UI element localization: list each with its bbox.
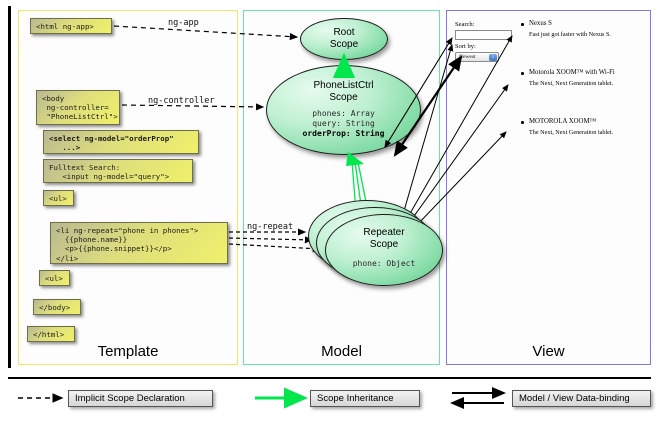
bullet-icon — [521, 121, 524, 124]
bullet-icon — [521, 72, 524, 75]
edge-label-ng-controller: ng-controller — [148, 96, 215, 106]
scope-ctrl-prop-phones: phones: Array — [267, 109, 420, 119]
edge-label-ng-app: ng-app — [168, 18, 199, 28]
code-box-ul-open: <ul> — [43, 190, 74, 206]
legend-icon-double-arrow — [452, 393, 504, 403]
scope-repeater[interactable]: Repeater Scope phone: Object — [325, 214, 443, 286]
sort-by-selected-value: Newest — [459, 54, 476, 60]
diagram-canvas: Template <html ng-app> <body ng-controll… — [0, 0, 661, 425]
chevron-updown-icon: ↕ — [489, 54, 497, 61]
panel-template-label: Template — [19, 343, 237, 360]
code-box-li-ng-repeat: <li ng-repeat="phone in phones"> {{phone… — [50, 222, 228, 264]
code-box-body-open: <body ng-controller= "PhoneListCtrl"> — [36, 90, 120, 125]
search-input[interactable] — [455, 30, 512, 40]
code-box-body-close: </body> — [33, 299, 81, 315]
legend-divider — [8, 377, 651, 379]
phone-snippet: The Next, Next Generation tablet. — [529, 129, 613, 136]
legend-item-implicit-scope-declaration: Implicit Scope Declaration — [68, 390, 213, 407]
view-browser-mock: Search: Sort by: Newest ↕ Nexus S Fast j… — [453, 17, 644, 336]
search-label: Search: — [455, 21, 475, 28]
phone-name: Nexus S — [529, 20, 552, 27]
scope-repeater-title-line1: Repeater — [326, 215, 442, 239]
code-box-fulltext-search: Fulltext Search: <input ng-model="query"… — [43, 159, 193, 183]
legend-item-model-view-data-binding: Model / View Data-binding — [512, 390, 651, 407]
bullet-icon — [521, 23, 524, 26]
scope-root[interactable]: Root Scope — [300, 18, 388, 60]
scope-root-title-line1: Root — [301, 19, 387, 39]
code-box-html-open: <html ng-app> — [30, 18, 112, 34]
scope-ctrl-title-line1: PhoneListCtrl — [267, 66, 420, 92]
panel-view: View Search: Sort by: Newest ↕ Nexus S F… — [446, 10, 651, 365]
scope-repeater-title-line2: Scope — [326, 239, 442, 251]
phone-name: MOTOROLA XOOM™ — [529, 118, 596, 125]
phone-name: Motorola XOOM™ with Wi-Fi — [529, 69, 615, 76]
scope-root-title-line2: Scope — [301, 39, 387, 51]
scope-ctrl-title-line2: Scope — [267, 92, 420, 104]
phone-snippet: The Next, Next Generation tablet. — [529, 80, 613, 87]
panel-view-label: View — [447, 343, 650, 360]
panel-model-label: Model — [244, 343, 439, 360]
sort-by-label: Sort by: — [455, 43, 476, 50]
scope-phonelistctrl[interactable]: PhoneListCtrl Scope phones: Array query:… — [266, 65, 421, 155]
code-box-ul-close: <ul> — [39, 270, 70, 286]
code-box-html-close: </html> — [27, 326, 75, 342]
phone-snippet: Fast just got faster with Nexus S. — [529, 31, 611, 38]
edge-label-ng-repeat: ng-repeat — [247, 222, 293, 232]
scope-repeater-prop-phone: phone: Object — [326, 259, 442, 269]
scope-ctrl-prop-orderprop: orderProp: String — [267, 129, 420, 139]
legend-item-scope-inheritance: Scope Inheritance — [310, 390, 420, 407]
panel-model: Model — [243, 10, 440, 365]
sort-by-select[interactable]: Newest ↕ — [455, 52, 499, 62]
scope-ctrl-prop-query: query: String — [267, 119, 420, 129]
code-box-select: <select ng-model="orderProp" ...> — [43, 130, 199, 154]
left-spine-divider — [8, 6, 11, 368]
